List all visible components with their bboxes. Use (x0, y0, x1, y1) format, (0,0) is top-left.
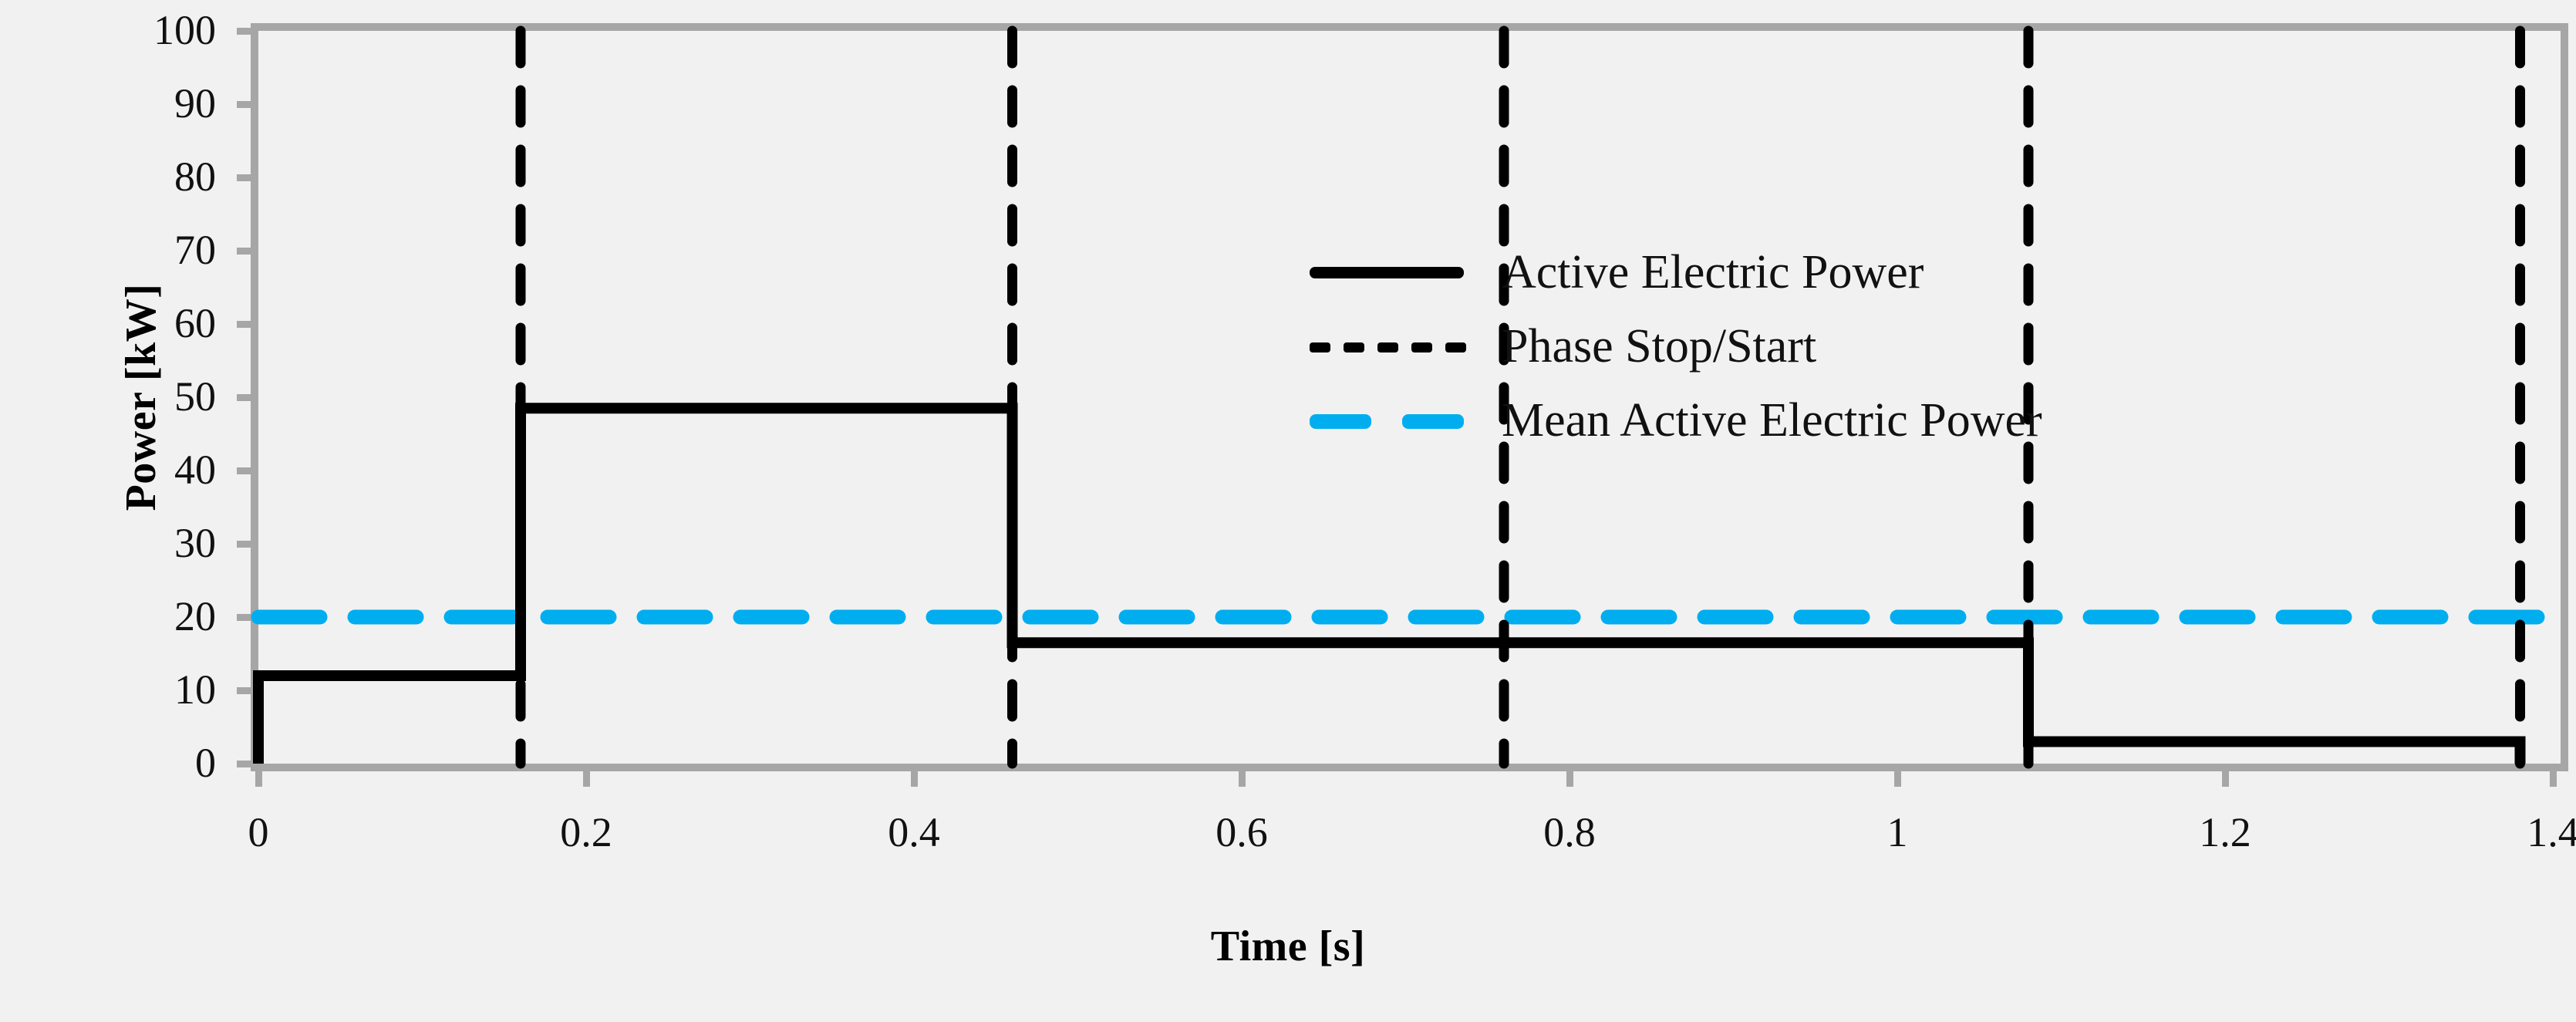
y-axis-tick (237, 321, 251, 328)
y-axis-tick (237, 761, 251, 767)
y-axis-tick (237, 394, 251, 401)
x-axis-tick (255, 771, 262, 787)
y-axis-tick-label: 0 (93, 742, 216, 784)
y-axis-tick-label: 50 (93, 376, 216, 417)
x-axis-tick-label: 1 (1820, 811, 1974, 853)
y-axis-tick (237, 101, 251, 108)
x-axis-line (251, 764, 2561, 771)
plot-frame-right (2561, 23, 2568, 771)
legend-item[interactable]: Phase Stop/Start (1303, 309, 2306, 383)
y-axis-tick-label: 10 (93, 669, 216, 710)
y-axis-tick-label: 20 (93, 595, 216, 637)
x-axis-tick (1239, 771, 1246, 787)
y-axis-tick-label: 90 (93, 83, 216, 124)
y-axis-tick-label: 80 (93, 156, 216, 197)
x-axis-tick-label: 0.8 (1492, 811, 1647, 853)
x-axis-tick (583, 771, 590, 787)
plot-frame-top (251, 23, 2561, 31)
y-axis-tick (237, 541, 251, 548)
legend-swatch-solid-icon (1303, 257, 1469, 288)
legend-item-label: Phase Stop/Start (1502, 322, 1816, 370)
y-axis-tick (237, 614, 251, 621)
y-axis-tick (237, 28, 251, 35)
legend-swatch-dashed-icon (1303, 405, 1469, 436)
y-axis-tick-label: 70 (93, 229, 216, 271)
y-axis-line (251, 23, 258, 771)
chart-legend: Active Electric PowerPhase Stop/StartMea… (1303, 235, 2306, 457)
y-axis-tick (237, 687, 251, 694)
x-axis-tick-label: 0 (181, 811, 335, 853)
legend-swatch-dotted-icon (1303, 331, 1469, 362)
chart-figure: Power [kW] 0102030405060708090100 00.20.… (0, 0, 2576, 1022)
x-axis-tick-label: 0.6 (1165, 811, 1319, 853)
legend-item-label: Mean Active Electric Power (1502, 396, 2042, 444)
x-axis-tick-label: 1.4 (2476, 811, 2576, 853)
x-axis-tick (1566, 771, 1573, 787)
legend-item-label: Active Electric Power (1502, 248, 1924, 296)
x-axis-tick-label: 0.4 (837, 811, 991, 853)
x-axis-title: Time [s] (0, 922, 2576, 971)
x-axis-tick (911, 771, 918, 787)
y-axis-tick (237, 248, 251, 255)
y-axis-tick-label: 40 (93, 449, 216, 491)
legend-item[interactable]: Active Electric Power (1303, 235, 2306, 309)
y-axis-tick-label: 60 (93, 302, 216, 344)
x-axis-tick (2550, 771, 2557, 787)
legend-item[interactable]: Mean Active Electric Power (1303, 383, 2306, 457)
y-axis-tick-label: 30 (93, 522, 216, 564)
x-axis-tick (2222, 771, 2229, 787)
y-axis-tick-label: 100 (93, 9, 216, 51)
active-power-line (258, 408, 2520, 764)
x-axis-tick-label: 0.2 (509, 811, 663, 853)
x-axis-tick-label: 1.2 (2148, 811, 2302, 853)
y-axis-tick (237, 174, 251, 181)
y-axis-tick (237, 467, 251, 474)
x-axis-tick (1894, 771, 1901, 787)
